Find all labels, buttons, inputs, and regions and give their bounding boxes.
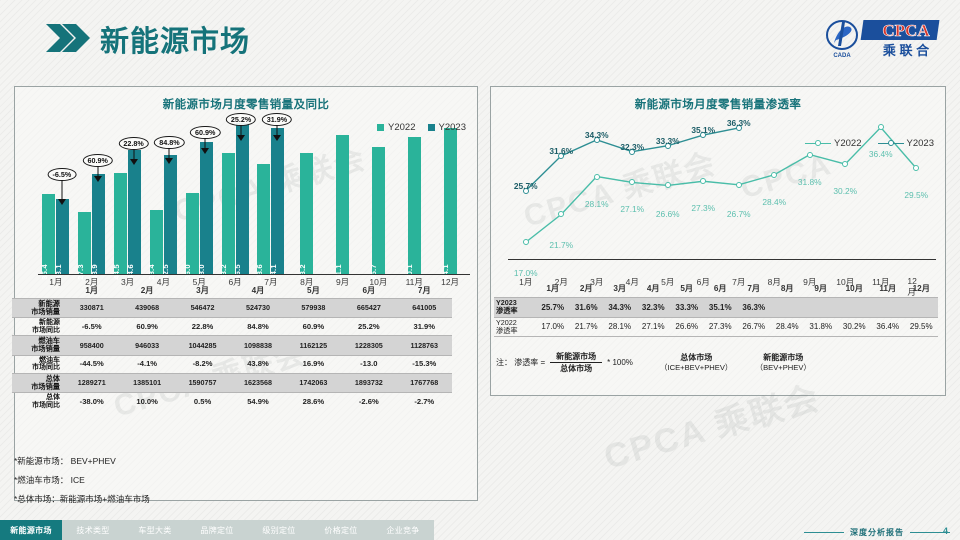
line-data-point: [878, 124, 884, 130]
footer-report-label: 深度分析报告: [850, 527, 904, 538]
note-multiplier: * 100%: [607, 358, 633, 367]
footer-tab-4[interactable]: 级别定位: [248, 520, 310, 540]
left-panel-title-wrap: 新能源市场月度零售销量及同比: [14, 86, 478, 112]
callout-arrow: [58, 199, 66, 205]
footer-report-label-wrap: 深度分析报告: [804, 527, 950, 538]
table-row: 总体市场销量1289271138510115907571623568174206…: [12, 374, 452, 393]
table-cell: 10.0%: [119, 393, 174, 411]
table-cell: 16.9%: [286, 355, 341, 374]
page-number: 4: [943, 526, 948, 536]
left-table-col-header: 1月: [64, 286, 119, 298]
table-cell: 60.9%: [286, 317, 341, 336]
legend-label: Y2022: [388, 122, 415, 133]
row-label-line2: 市场销量: [13, 383, 60, 391]
left-table-row-header: 燃油车市场销量: [12, 336, 64, 355]
line-data-point: [913, 165, 919, 171]
line-data-point: [700, 178, 706, 184]
table-cell: 30.2%: [838, 317, 872, 337]
line-point-label: 31.8%: [798, 177, 822, 187]
callout-stem: [133, 149, 134, 159]
line-point-label: 33.3%: [656, 136, 680, 146]
table-cell: 31.6%: [570, 298, 604, 318]
row-label-line1: 总体: [13, 394, 60, 402]
table-cell: -15.3%: [397, 355, 452, 374]
table-cell: 1893732: [341, 374, 396, 393]
legend-item: Y2023: [428, 122, 466, 133]
table-cell: 36.4%: [871, 317, 905, 337]
bar-chart: 35.433.127.343.944.554.628.452.536.058.0…: [20, 110, 472, 275]
note-fraction: 新能源市场 总体市场: [550, 352, 602, 373]
table-cell: 32.3%: [637, 298, 671, 318]
right-table-col-header: 11月: [871, 281, 905, 298]
left-table-row-header: 总体市场同比: [12, 393, 64, 411]
callout-arrow: [130, 159, 138, 165]
table-cell: 1289271: [64, 374, 119, 393]
line-data-point: [771, 172, 777, 178]
legend-swatch: [377, 124, 384, 131]
table-cell: 1098838: [230, 336, 285, 355]
table-cell: 21.7%: [570, 317, 604, 337]
footer-tab-5[interactable]: 价格定位: [310, 520, 372, 540]
legend-item: Y2022: [377, 122, 415, 133]
bar: 52.5: [164, 155, 177, 275]
svg-text:乘 联 合: 乘 联 合: [882, 43, 930, 58]
footer-tab-1[interactable]: 技术类型: [62, 520, 124, 540]
table-cell: 641005: [397, 298, 452, 317]
row-label-line1: 新能源: [13, 319, 60, 327]
table-cell: 330871: [64, 298, 119, 317]
bar-group: 60.1: [396, 110, 432, 275]
callout-arrow: [273, 135, 281, 141]
right-table-col-header: 6月: [704, 281, 738, 298]
table-cell: -6.5%: [64, 317, 119, 336]
right-table-col-header: 5月: [670, 281, 704, 298]
right-table-col-header: 10月: [838, 281, 872, 298]
right-table-col-header: 12月: [905, 281, 939, 298]
svg-text:CPCA: CPCA: [882, 21, 930, 40]
table-cell: -2.6%: [341, 393, 396, 411]
bar-group: 28.452.5: [146, 110, 182, 275]
line-data-point: [665, 182, 671, 188]
bar: 44.5: [114, 173, 127, 275]
footnote-nev: *新能源市场： BEV+PHEV: [14, 455, 150, 467]
cpca-logo: CADA CPCA 乘 联 合: [824, 16, 942, 60]
callout-stem: [61, 180, 62, 199]
footer-tab-2[interactable]: 车型大类: [124, 520, 186, 540]
right-table-body: Y2023渗透率25.7%31.6%34.3%32.3%33.3%35.1%36…: [494, 298, 938, 337]
table-cell: 28.6%: [286, 393, 341, 411]
legend-line: [878, 143, 904, 144]
line-point-label: 26.6%: [656, 209, 680, 219]
table-cell: 25.7%: [536, 298, 570, 318]
table-row: 燃油车市场销量958400946033104428510988381162125…: [12, 336, 452, 355]
bar: 66.5: [236, 123, 249, 275]
table-cell: 17.0%: [536, 317, 570, 337]
table-cell: 946033: [119, 336, 174, 355]
callout-stem: [276, 125, 277, 135]
table-cell: 1767768: [397, 374, 452, 393]
note-term1-bottom: （ICE+BEV+PHEV）: [660, 363, 733, 372]
table-cell: 1623568: [230, 374, 285, 393]
legend-swatch: [428, 124, 435, 131]
legend-item: Y2023: [878, 138, 934, 149]
table-row: Y2022渗透率17.0%21.7%28.1%27.1%26.6%27.3%26…: [494, 317, 938, 337]
row-label-line2: 市场销量: [13, 345, 60, 353]
row-label-line2: 渗透率: [496, 307, 535, 315]
table-cell: 1590757: [175, 374, 230, 393]
table-cell: -4.1%: [119, 355, 174, 374]
table-cell: -38.0%: [64, 393, 119, 411]
table-row: 新能源市场同比-6.5%60.9%22.8%84.8%60.9%25.2%31.…: [12, 317, 452, 336]
right-panel-title-wrap: 新能源市场月度零售销量渗透率: [490, 86, 946, 112]
row-label-line2: 市场同比: [13, 402, 60, 410]
left-table-row-header: 新能源市场同比: [12, 317, 64, 336]
line-point-label: 36.3%: [727, 118, 751, 128]
line-point-label: 29.5%: [904, 190, 928, 200]
row-label-line2: 市场销量: [13, 308, 60, 316]
line-data-point: [594, 174, 600, 180]
left-table-col-header: 7月: [397, 286, 452, 298]
table-cell: -8.2%: [175, 355, 230, 374]
line-chart: 17.0%21.7%28.1%27.1%26.6%27.3%26.7%28.4%…: [498, 112, 940, 274]
line-chart-legend: Y2022Y2023: [805, 138, 934, 149]
left-table-col-header: 4月: [230, 286, 285, 298]
legend-label: Y2023: [907, 138, 934, 149]
page-header: 新能源市场 CADA CPCA 乘 联 合: [0, 0, 960, 78]
table-cell: 22.8%: [175, 317, 230, 336]
callout-arrow: [201, 148, 209, 154]
right-table-row-header: Y2023渗透率: [494, 298, 536, 318]
line-point-label: 27.3%: [691, 203, 715, 213]
table-cell: [838, 298, 872, 318]
right-table-col-header: 3月: [603, 281, 637, 298]
callout-stem: [205, 138, 206, 148]
right-table-header-row: 1月2月3月4月5月6月7月8月9月10月11月12月: [494, 281, 938, 298]
table-cell: 34.3%: [603, 298, 637, 318]
right-data-table: 1月2月3月4月5月6月7月8月9月10月11月12月 Y2023渗透率25.7…: [494, 281, 938, 337]
bar: 54.6: [128, 150, 141, 275]
bar: 48.6: [257, 164, 270, 275]
table-cell: 26.7%: [737, 317, 771, 337]
bar-chart-legend: Y2022Y2023: [377, 122, 466, 133]
line-point-label: 28.1%: [585, 199, 609, 209]
table-cell: 28.4%: [771, 317, 805, 337]
bar: 64.1: [444, 128, 457, 275]
left-footnotes: *新能源市场： BEV+PHEV *燃油车市场： ICE *总体市场：新能源市场…: [14, 455, 150, 512]
table-cell: 26.6%: [670, 317, 704, 337]
table-cell: -2.7%: [397, 393, 452, 411]
bar-plot-area: 35.433.127.343.944.554.628.452.536.058.0…: [38, 110, 468, 275]
footnote-total: *总体市场：新能源市场+燃油车市场: [14, 493, 150, 505]
table-row: 总体市场同比-38.0%10.0%0.5%54.9%28.6%-2.6%-2.7…: [12, 393, 452, 411]
note-prefix: 注： 渗透率 =: [496, 357, 545, 368]
table-row: Y2023渗透率25.7%31.6%34.3%32.3%33.3%35.1%36…: [494, 298, 938, 318]
table-cell: -13.0: [341, 355, 396, 374]
callout-arrow: [165, 158, 173, 164]
right-chart-title: 新能源市场月度零售销量渗透率: [490, 96, 946, 112]
left-table-row-header: 新能源市场销量: [12, 298, 64, 317]
table-cell: [804, 298, 838, 318]
legend-label: Y2023: [439, 122, 466, 133]
table-cell: 29.5%: [905, 317, 939, 337]
line-point-label: 32.3%: [620, 142, 644, 152]
bar: 61.1: [336, 135, 349, 275]
right-table-col-header: 2月: [570, 281, 604, 298]
line-point-label: 31.6%: [549, 146, 573, 156]
bar: 53.2: [222, 153, 235, 275]
bar-group: 55.7: [361, 110, 397, 275]
right-table-col-header: 9月: [804, 281, 838, 298]
right-table-col-header: 8月: [771, 281, 805, 298]
line-data-point: [558, 211, 564, 217]
line-x-axis: [508, 259, 936, 261]
note-term-nev-market: 新能源市场 （BEV+PHEV）: [756, 353, 812, 372]
bar-group: 35.433.1: [38, 110, 74, 275]
line-point-label: 36.4%: [869, 149, 893, 159]
double-chevron-icon: [46, 22, 90, 54]
note-term2-bottom: （BEV+PHEV）: [756, 363, 812, 372]
table-cell: [871, 298, 905, 318]
table-cell: 439068: [119, 298, 174, 317]
line-data-point: [842, 161, 848, 167]
table-cell: 60.9%: [119, 317, 174, 336]
table-cell: 33.3%: [670, 298, 704, 318]
footer-tab-6[interactable]: 企业竞争: [372, 520, 434, 540]
line-plot-area: 17.0%21.7%28.1%27.1%26.6%27.3%26.7%28.4%…: [508, 112, 934, 260]
callout-stem: [169, 148, 170, 158]
table-cell: 25.2%: [341, 317, 396, 336]
bar: 60.1: [408, 137, 421, 275]
row-label-line2: 渗透率: [496, 327, 535, 335]
table-row: 新能源市场销量330871439068546472524730579938665…: [12, 298, 452, 317]
note-term-total-market: 总体市场 （ICE+BEV+PHEV）: [660, 353, 733, 372]
left-table-header-row: 1月2月3月4月5月6月7月: [12, 286, 452, 298]
callout-stem: [97, 166, 98, 176]
left-table-col-header: 2月: [119, 286, 174, 298]
left-table-col-header: [12, 286, 64, 298]
table-cell: 27.1%: [637, 317, 671, 337]
line-point-label: 21.7%: [549, 240, 573, 250]
right-table-col-header: 1月: [536, 281, 570, 298]
footnote-ice: *燃油车市场： ICE: [14, 474, 150, 486]
legend-line: [805, 143, 831, 144]
bar-group: 53.2: [289, 110, 325, 275]
left-table-body: 新能源市场销量330871439068546472524730579938665…: [12, 298, 452, 411]
left-table-row-header: 总体市场销量: [12, 374, 64, 393]
bar: 55.7: [372, 147, 385, 275]
legend-marker: [888, 140, 894, 146]
footer-tab-3[interactable]: 品牌定位: [186, 520, 248, 540]
table-cell: 43.8%: [230, 355, 285, 374]
right-table-col-header: 7月: [737, 281, 771, 298]
table-cell: 1162125: [286, 336, 341, 355]
svg-text:CADA: CADA: [833, 53, 851, 59]
left-table-col-header: 6月: [341, 286, 396, 298]
bar-group: 48.664.1: [253, 110, 289, 275]
note-numerator: 新能源市场: [550, 352, 602, 363]
bar: 36.0: [186, 193, 199, 276]
left-data-table: 1月2月3月4月5月6月7月 新能源市场销量330871439068546472…: [12, 286, 452, 411]
table-cell: -44.5%: [64, 355, 119, 374]
table-cell: 1742063: [286, 374, 341, 393]
legend-item: Y2022: [805, 138, 861, 149]
note-term1-top: 总体市场: [680, 353, 712, 363]
bar-group: 27.343.9: [74, 110, 110, 275]
line-data-point: [523, 239, 529, 245]
bar-group: 53.266.5: [217, 110, 253, 275]
table-cell: [771, 298, 805, 318]
table-cell: 27.3%: [704, 317, 738, 337]
table-cell: 0.5%: [175, 393, 230, 411]
bar: 58.0: [200, 142, 213, 275]
line-point-label: 30.2%: [833, 186, 857, 196]
table-cell: 958400: [64, 336, 119, 355]
page-footer: 新能源市场技术类型车型大类品牌定位级别定位价格定位企业竞争 深度分析报告 4: [0, 516, 960, 540]
right-table-row-header: Y2022渗透率: [494, 317, 536, 337]
table-cell: 28.1%: [603, 317, 637, 337]
legend-label: Y2022: [834, 138, 861, 149]
footer-rule-left: [804, 532, 844, 533]
table-row: 燃油车市场同比-44.5%-4.1%-8.2%43.8%16.9%-13.0-1…: [12, 355, 452, 374]
table-cell: 1128763: [397, 336, 452, 355]
table-cell: 35.1%: [704, 298, 738, 318]
bar-group: 64.1: [432, 110, 468, 275]
note-denominator: 总体市场: [554, 363, 598, 373]
table-cell: 31.9%: [397, 317, 452, 336]
bar: 53.2: [300, 153, 313, 275]
left-table-col-header: 5月: [286, 286, 341, 298]
table-cell: 524730: [230, 298, 285, 317]
line-point-label: 27.1%: [620, 204, 644, 214]
line-point-label: 28.4%: [762, 197, 786, 207]
bar: 33.1: [56, 199, 69, 275]
bar: 64.1: [271, 128, 284, 275]
line-point-label: 35.1%: [691, 125, 715, 135]
bar-x-axis: [38, 274, 470, 276]
row-label-line2: 市场同比: [13, 327, 60, 335]
page-title: 新能源市场: [100, 18, 250, 60]
right-table-col-header: 4月: [637, 281, 671, 298]
penetration-rate-note: 注： 渗透率 = 新能源市场 总体市场 * 100% 总体市场 （ICE+BEV…: [496, 352, 811, 373]
table-cell: 579938: [286, 298, 341, 317]
bar-group: 44.554.6: [110, 110, 146, 275]
line-point-label: 26.7%: [727, 209, 751, 219]
table-cell: 1044285: [175, 336, 230, 355]
line-data-point: [807, 152, 813, 158]
table-cell: 54.9%: [230, 393, 285, 411]
bar-group: 61.1: [325, 110, 361, 275]
line-paths: [508, 112, 934, 260]
table-cell: 546472: [175, 298, 230, 317]
line-data-point: [736, 182, 742, 188]
note-term2-top: 新能源市场: [763, 353, 803, 363]
line-point-label: 25.7%: [514, 181, 538, 191]
table-cell: 84.8%: [230, 317, 285, 336]
table-cell: 1385101: [119, 374, 174, 393]
bar: 43.9: [92, 174, 105, 275]
table-cell: 31.8%: [804, 317, 838, 337]
callout-stem: [241, 125, 242, 135]
left-table-row-header: 燃油车市场同比: [12, 355, 64, 374]
table-cell: 36.3%: [737, 298, 771, 318]
table-cell: [905, 298, 939, 318]
line-data-point: [629, 179, 635, 185]
line-point-label: 34.3%: [585, 130, 609, 140]
callout-arrow: [237, 135, 245, 141]
right-table-col-header: [494, 281, 536, 298]
table-cell: 665427: [341, 298, 396, 317]
left-table-col-header: 3月: [175, 286, 230, 298]
row-label-line2: 市场同比: [13, 364, 60, 372]
footer-tabs[interactable]: 新能源市场技术类型车型大类品牌定位级别定位价格定位企业竞争: [0, 520, 434, 540]
legend-marker: [815, 140, 821, 146]
table-cell: 1228305: [341, 336, 396, 355]
footer-tab-0[interactable]: 新能源市场: [0, 520, 62, 540]
callout-arrow: [94, 176, 102, 182]
